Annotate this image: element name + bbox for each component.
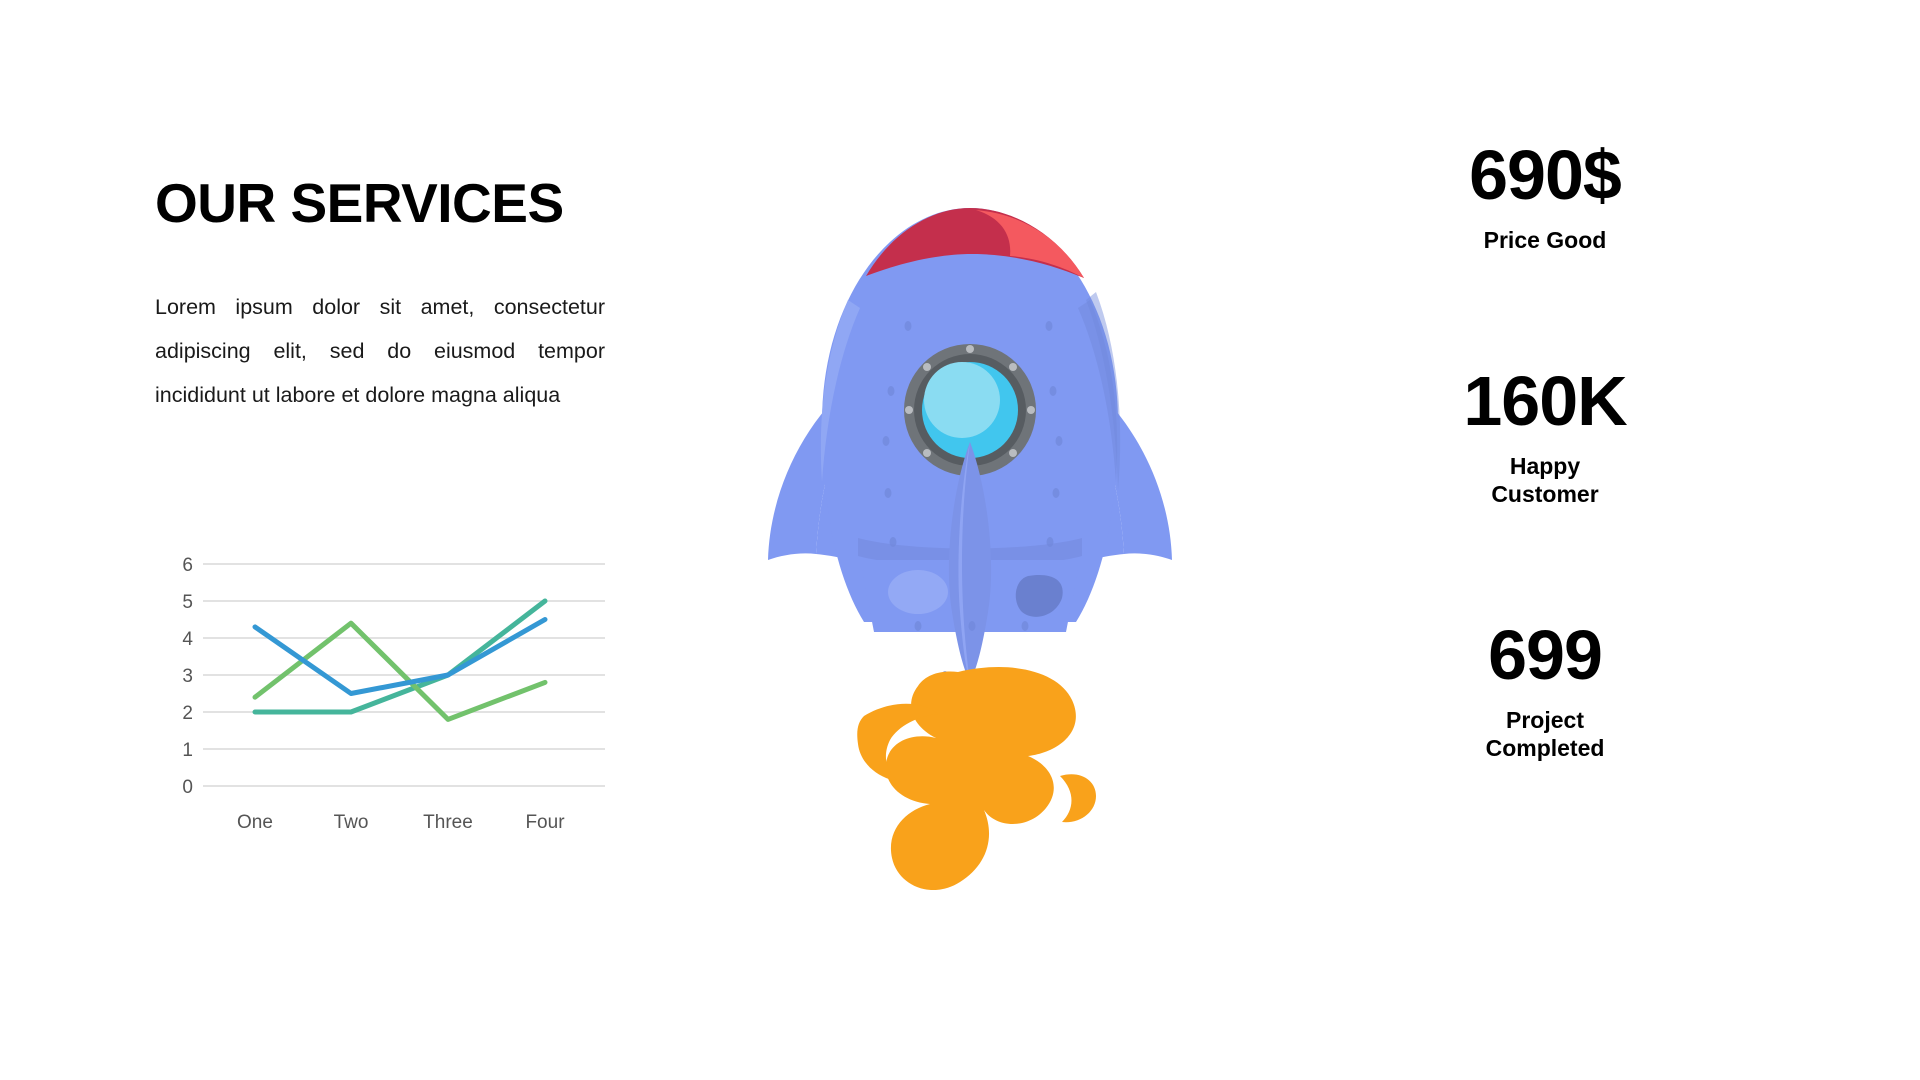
chart-y-axis-labels: 6 5 4 3 2 1 0 [182,555,193,798]
page-title: OUR SERVICES [155,175,605,233]
stat-block-price-good: 690$ Price Good [1330,140,1760,254]
slide-root: OUR SERVICES Lorem ipsum dolor sit amet,… [0,0,1920,1080]
body-paragraph: Lorem ipsum dolor sit amet, consectetur … [155,285,605,417]
y-tick-label: 1 [182,740,193,761]
y-tick-label: 0 [182,777,193,798]
rocket-svg [760,160,1180,920]
x-tick-label: Two [334,812,369,833]
y-tick-label: 3 [182,666,193,687]
stat-block-happy-customer: 160K Happy Customer [1330,366,1760,508]
x-tick-label: Four [525,812,565,833]
stat-value: 690$ [1330,140,1760,210]
y-tick-label: 6 [182,555,193,576]
stat-label: Project Completed [1330,706,1760,762]
stat-label: Price Good [1330,226,1760,254]
y-tick-label: 5 [182,592,193,613]
x-tick-label: Three [423,812,473,833]
rocket-illustration [760,160,1180,920]
y-tick-label: 2 [182,703,193,724]
stats-column: 690$ Price Good 160K Happy Customer 699 … [1330,140,1760,762]
line-chart-svg: 6 5 4 3 2 1 0 One Two Three Four [155,548,605,878]
stat-value: 160K [1330,366,1760,436]
x-tick-label: One [237,812,273,833]
stat-block-project-completed: 699 Project Completed [1330,620,1760,762]
chart-series-lines [255,601,545,719]
porthole-glass-highlight [924,362,1000,438]
left-content-column: OUR SERVICES Lorem ipsum dolor sit amet,… [155,175,605,417]
y-tick-label: 4 [182,629,193,650]
stat-value: 699 [1330,620,1760,690]
rocket-flame [857,667,1096,890]
line-chart: 6 5 4 3 2 1 0 One Two Three Four [155,548,605,878]
chart-x-axis-labels: One Two Three Four [237,812,565,833]
stat-label: Happy Customer [1330,452,1760,508]
chart-line-series-1 [255,620,545,694]
